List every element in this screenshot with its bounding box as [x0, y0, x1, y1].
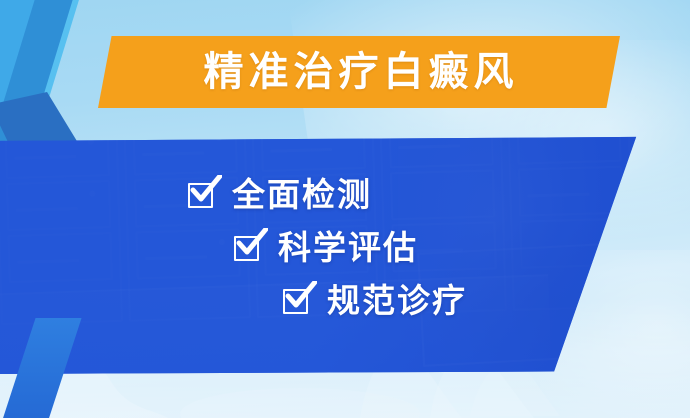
checklist-item-0: 全面检测 — [188, 178, 372, 211]
checklist-item-label: 规范诊疗 — [327, 284, 467, 317]
checklist-item-label: 全面检测 — [232, 178, 372, 211]
checkbox-checked-icon — [283, 286, 313, 316]
checkbox-checked-icon — [188, 180, 218, 210]
feature-checklist: 全面检测 科学评估 规范诊疗 — [0, 0, 690, 418]
checklist-item-2: 规范诊疗 — [283, 284, 467, 317]
checklist-item-1: 科学评估 — [234, 231, 418, 264]
checkbox-checked-icon — [234, 233, 264, 263]
checklist-item-label: 科学评估 — [278, 231, 418, 264]
promo-banner-root: 精准治疗白癜风 全面检测 科学评估 — [0, 0, 690, 418]
